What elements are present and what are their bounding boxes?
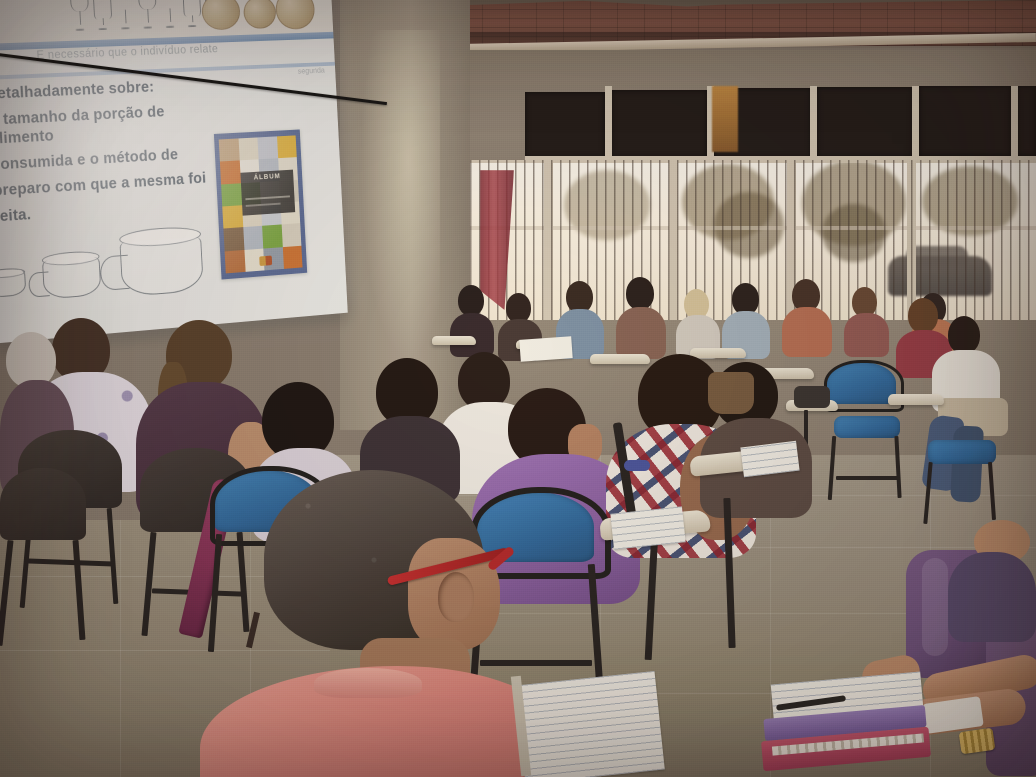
- classroom-photograph: É necessário que o indivíduo relate segu…: [0, 0, 1036, 777]
- glassware-illustrations: [70, 0, 222, 31]
- notebook-foreground: [515, 671, 665, 777]
- album-booklet-image: ÁLBUM: [214, 129, 307, 279]
- slide-line-1: detalhadamente sobre:: [0, 76, 215, 104]
- chair-dark-left-3: [0, 468, 96, 648]
- projection-screen: É necessário que o indivíduo relate segu…: [0, 0, 348, 343]
- ear: [438, 572, 474, 622]
- notebook-stack: [762, 678, 942, 777]
- shoulder-bag: [708, 372, 754, 414]
- slide-line-2: o tamanho da porção de alimento: [0, 101, 218, 149]
- paper-on-desk-3: [519, 336, 572, 362]
- album-title: ÁLBUM: [241, 170, 295, 216]
- album-logo: [259, 256, 272, 266]
- hanging-cloth: [712, 86, 738, 152]
- wall-light-spill: [360, 30, 440, 360]
- right-seating-cluster: [800, 290, 1036, 550]
- paper-on-desk-1: [610, 506, 685, 549]
- person-foreground-man: [210, 470, 540, 777]
- upper-window-row: [525, 86, 1036, 158]
- person-right-edge: [948, 520, 1036, 640]
- wristwatch-gold: [959, 728, 996, 755]
- slide-page-marker: segunda: [298, 66, 325, 76]
- cup-illustrations: [0, 195, 224, 310]
